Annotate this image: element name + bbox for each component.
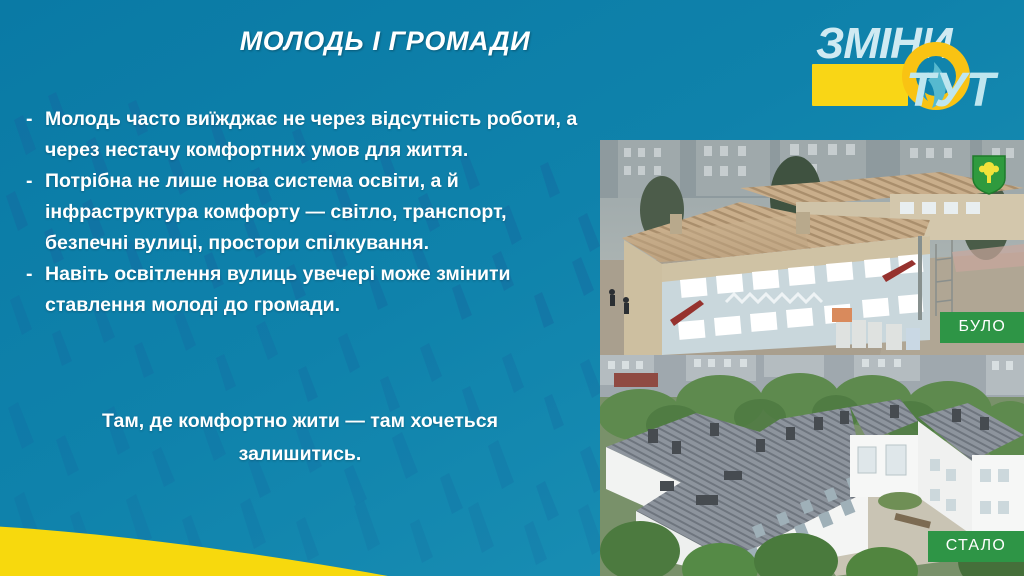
presentation-slide: МОЛОДЬ І ГРОМАДИ ЗМІНИ ТУТ - Молодь част… xyxy=(0,0,1024,576)
bullet-text: Потрібна не лише нова система освіти, а … xyxy=(45,166,586,259)
bullet-item-2: - Потрібна не лише нова система освіти, … xyxy=(26,166,586,259)
conclusion-text: Там, де комфортно жити — там хочеться за… xyxy=(40,405,560,471)
svg-text:ТУТ: ТУТ xyxy=(906,64,999,117)
bullet-marker: - xyxy=(26,104,45,135)
bullet-text: Молодь часто виїжджає не через відсутніс… xyxy=(45,104,586,166)
bullet-list: - Молодь часто виїжджає не через відсутн… xyxy=(26,104,586,321)
slide-title: МОЛОДЬ І ГРОМАДИ xyxy=(0,26,770,57)
community-coat-of-arms-icon xyxy=(972,155,1006,195)
bullet-text: Навіть освітлення вулиць увечері може зм… xyxy=(45,259,586,321)
bullet-marker: - xyxy=(26,166,45,197)
status-badge-before: БУЛО xyxy=(940,312,1024,343)
bullet-item-1: - Молодь часто виїжджає не через відсутн… xyxy=(26,104,586,166)
status-badge-after: СТАЛО xyxy=(928,531,1024,562)
zminy-tut-logo: ЗМІНИ ТУТ xyxy=(810,14,1010,118)
yellow-accent-band xyxy=(0,500,630,576)
bullet-item-3: - Навіть освітлення вулиць увечері може … xyxy=(26,259,586,321)
bullet-marker: - xyxy=(26,259,45,290)
